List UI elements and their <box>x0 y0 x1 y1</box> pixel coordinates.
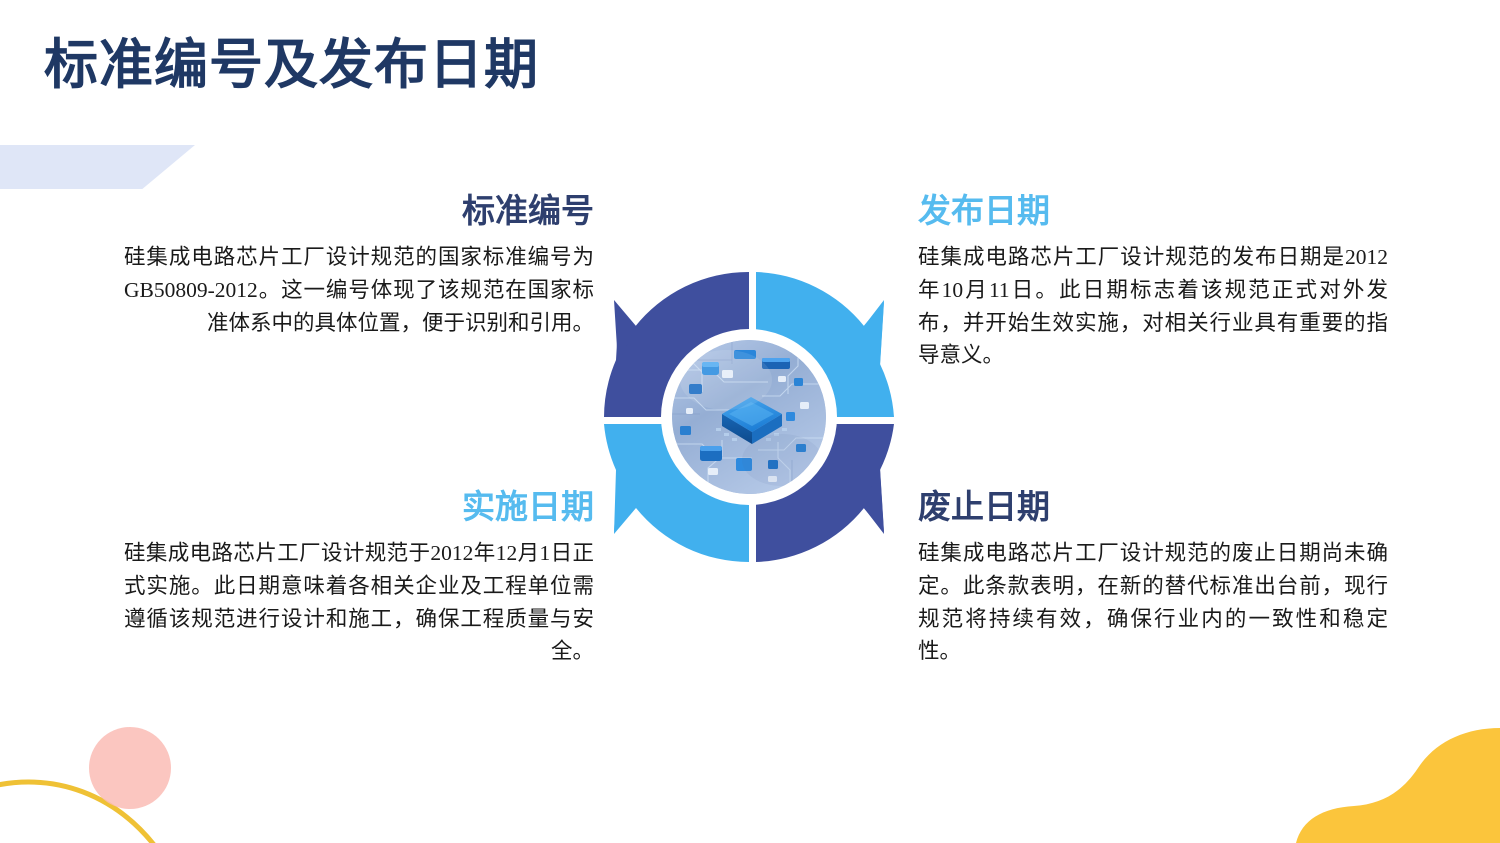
page-title: 标准编号及发布日期 <box>44 34 539 96</box>
block-body-implementation-date: 硅集成电路芯片工厂设计规范于2012年12月1日正式实施。此日期意味着各相关企业… <box>124 537 594 668</box>
block-body-abolition-date: 硅集成电路芯片工厂设计规范的废止日期尚未确定。此条款表明，在新的替代标准出台前，… <box>918 537 1388 668</box>
block-heading-release-date: 发布日期 <box>918 192 1388 233</box>
block-body-standard-number: 硅集成电路芯片工厂设计规范的国家标准编号为GB50809-2012。这一编号体现… <box>124 241 594 339</box>
info-block-standard-number: 标准编号 硅集成电路芯片工厂设计规范的国家标准编号为GB50809-2012。这… <box>124 192 594 339</box>
block-heading-standard-number: 标准编号 <box>124 192 594 233</box>
decorative-trapezoid-top-left <box>0 145 195 189</box>
slide-canvas: 标准编号及发布日期 标准编号 硅集成电路芯片工厂设计规范的国家标准编号为GB50… <box>0 0 1500 843</box>
microchip-circuit-board-image <box>672 340 826 494</box>
block-heading-abolition-date: 废止日期 <box>918 488 1388 529</box>
decorative-pink-circle <box>89 727 171 809</box>
info-block-release-date: 发布日期 硅集成电路芯片工厂设计规范的发布日期是2012年10月11日。此日期标… <box>918 192 1388 372</box>
block-body-release-date: 硅集成电路芯片工厂设计规范的发布日期是2012年10月11日。此日期标志着该规范… <box>918 241 1388 372</box>
info-block-abolition-date: 废止日期 硅集成电路芯片工厂设计规范的废止日期尚未确定。此条款表明，在新的替代标… <box>918 488 1388 668</box>
info-block-implementation-date: 实施日期 硅集成电路芯片工厂设计规范于2012年12月1日正式实施。此日期意味着… <box>124 488 594 668</box>
decorative-yellow-blob-bottom-right <box>1270 708 1500 843</box>
block-heading-implementation-date: 实施日期 <box>124 488 594 529</box>
